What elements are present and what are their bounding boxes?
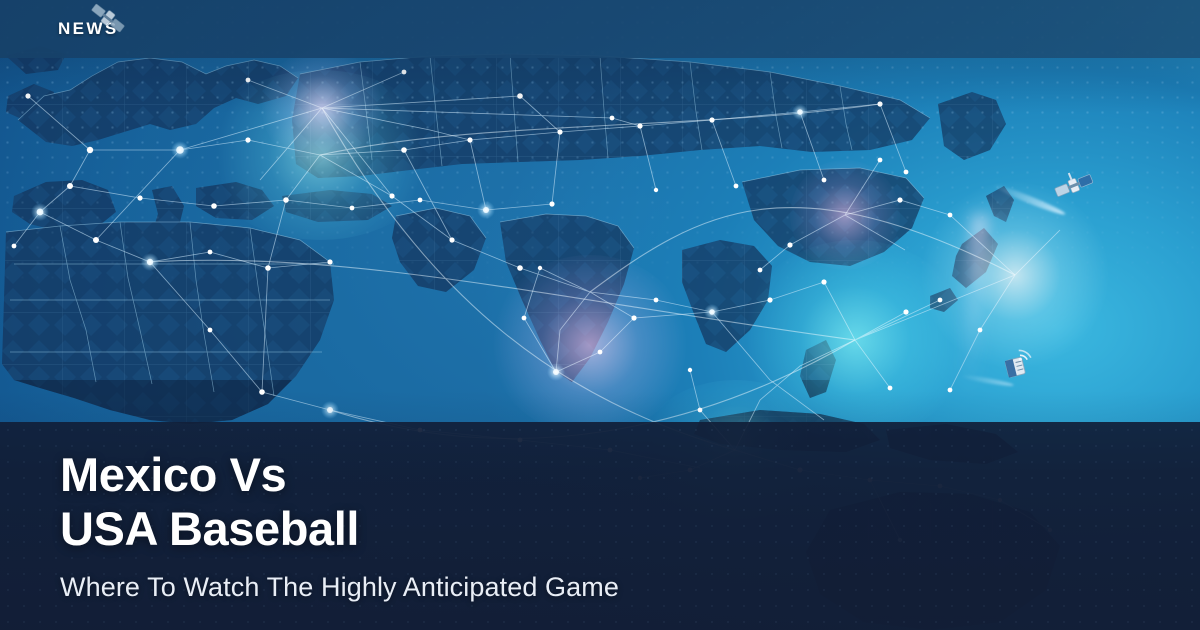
headline-block: Mexico Vs USA Baseball Where To Watch Th…	[60, 448, 619, 604]
page-subtitle: Where To Watch The Highly Anticipated Ga…	[60, 570, 619, 604]
news-banner: NEWS Mexico Vs USA Baseball Where To Wat…	[0, 0, 1200, 630]
page-title: Mexico Vs USA Baseball	[60, 448, 619, 556]
headline-line-1: Mexico Vs	[60, 448, 286, 501]
category-bar: NEWS	[0, 0, 1200, 58]
headline-line-2: USA Baseball	[60, 502, 359, 555]
satellite-icon	[88, 0, 128, 38]
